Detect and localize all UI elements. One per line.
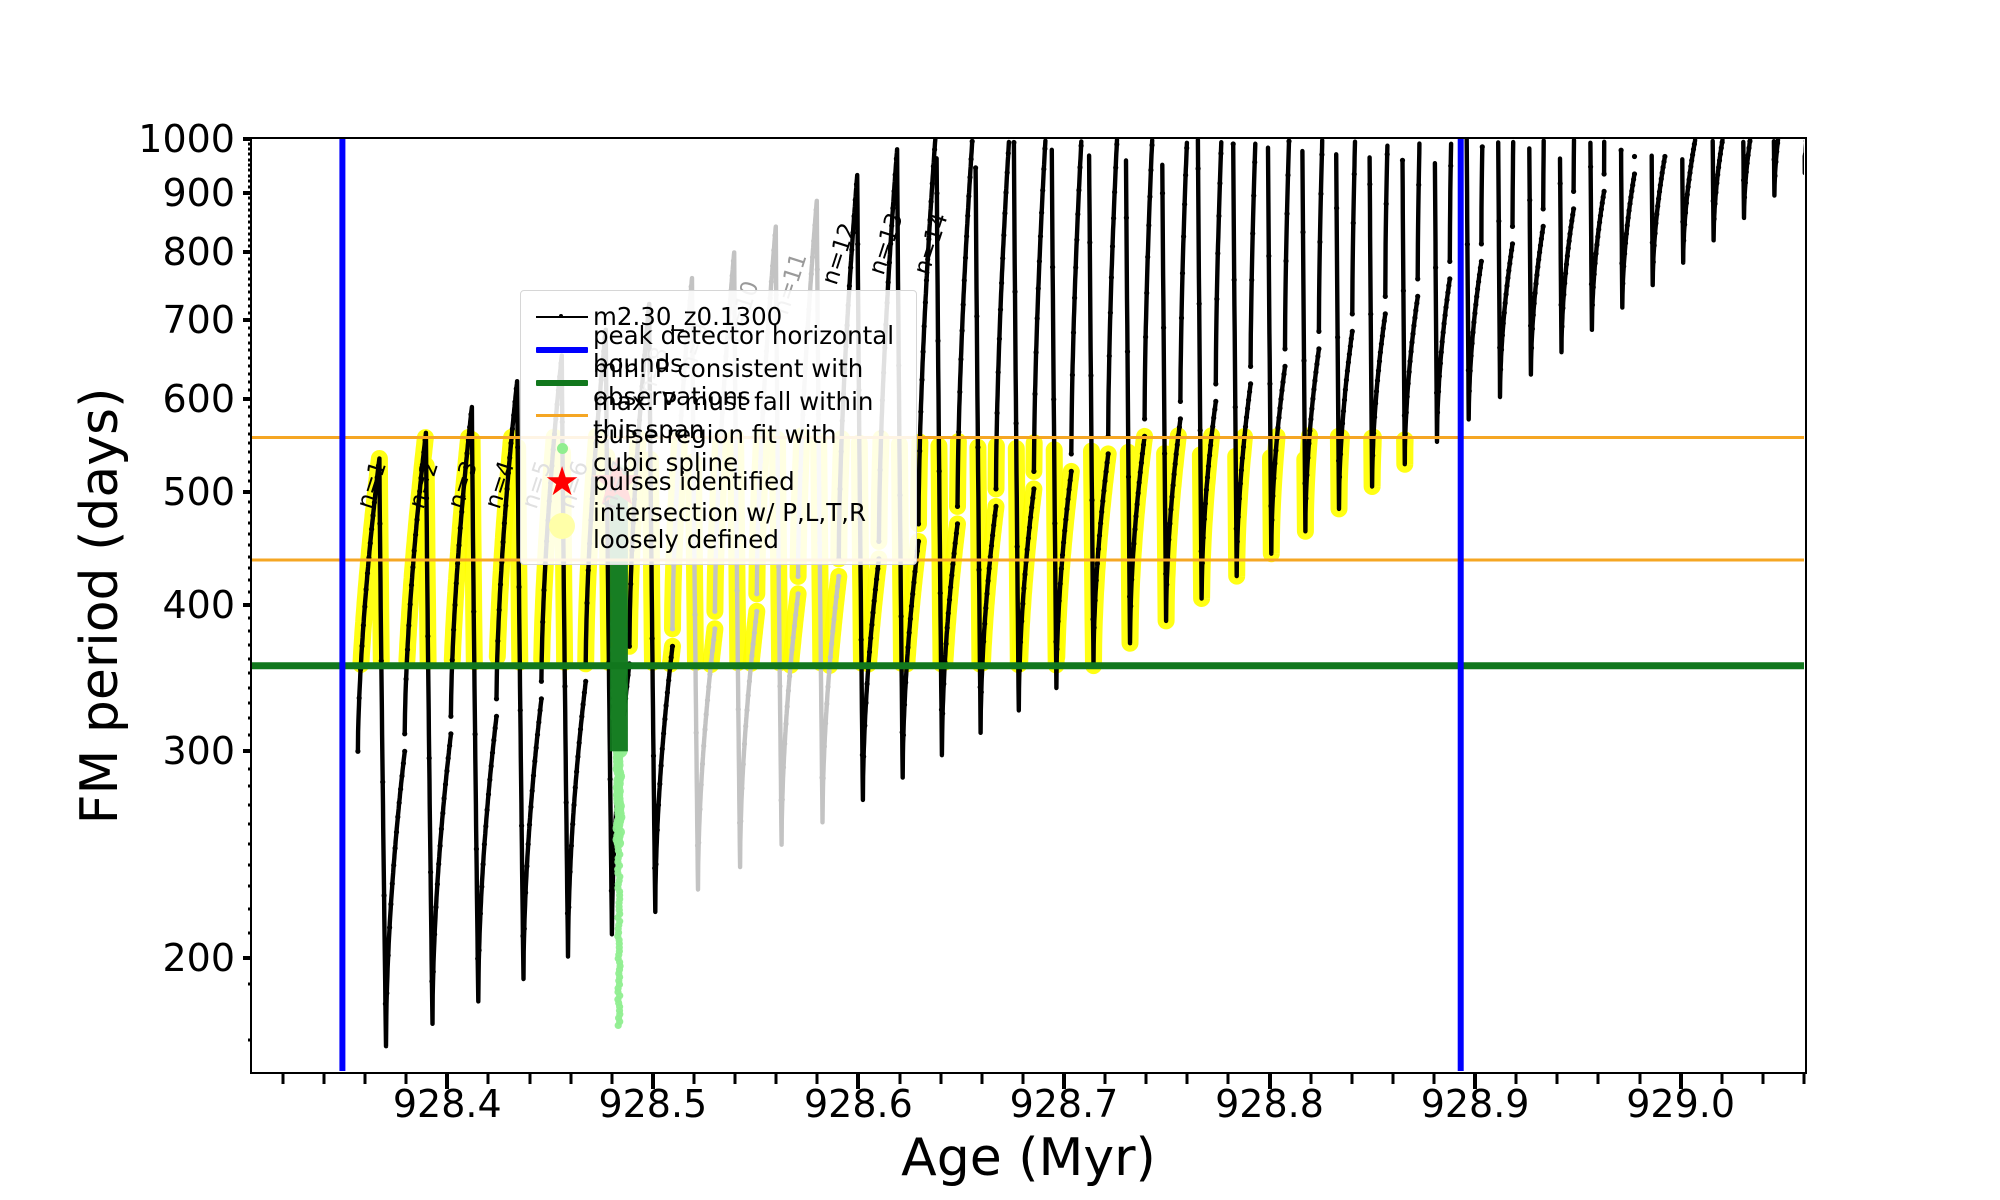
x-tick-minor: [1803, 1074, 1806, 1084]
legend-item-7[interactable]: intersection w/ P,L,T,R loosely defined: [531, 498, 906, 554]
y-tick-label: 700: [162, 298, 235, 342]
x-tick-minor: [1515, 1074, 1518, 1084]
x-tick-minor: [692, 1074, 695, 1084]
x-tick-minor: [1104, 1074, 1107, 1084]
x-tick-minor: [1145, 1074, 1148, 1084]
x-tick-minor: [1720, 1074, 1723, 1084]
x-tick-minor: [775, 1074, 778, 1084]
x-tick-minor: [610, 1074, 613, 1084]
x-tick-minor: [364, 1074, 367, 1084]
x-tick-minor: [487, 1074, 490, 1084]
x-tick-minor: [1761, 1074, 1764, 1084]
x-tick-minor: [898, 1074, 901, 1084]
x-tick-minor: [1391, 1074, 1394, 1084]
y-axis-label: FM period (days): [70, 206, 130, 1006]
thick-line-icon: [531, 371, 593, 395]
legend-item-label: pulses identified: [593, 468, 795, 495]
y-tick-label: 800: [162, 230, 235, 274]
x-tick-minor: [1597, 1074, 1600, 1084]
x-tick-minor: [322, 1074, 325, 1084]
x-tick-label: 928.8: [1215, 1082, 1324, 1126]
plot-clip: n=1n=2n=3n=4n=5n=6n=7n=8n=9n=10n=11n=12n…: [252, 139, 1805, 1072]
x-tick-minor: [569, 1074, 572, 1084]
x-tick-minor: [1309, 1074, 1312, 1084]
x-tick-minor: [1227, 1074, 1230, 1084]
y-tick-label: 500: [162, 470, 235, 514]
x-tick-minor: [281, 1074, 284, 1084]
plot-area: n=1n=2n=3n=4n=5n=6n=7n=8n=9n=10n=11n=12n…: [250, 137, 1807, 1074]
y-tick-label: 900: [162, 171, 235, 215]
x-tick-minor: [405, 1074, 408, 1084]
x-tick-label: 929.0: [1626, 1082, 1735, 1126]
thin-line-icon: [531, 404, 593, 428]
x-tick-label: 928.7: [1010, 1082, 1119, 1126]
yellow-dot-icon: [531, 514, 593, 538]
y-tick-label: 400: [162, 583, 235, 627]
x-tick-minor: [939, 1074, 942, 1084]
red-star-icon: ★: [531, 470, 593, 494]
x-tick-minor: [1186, 1074, 1189, 1084]
green-dot-icon: [531, 437, 593, 461]
y-tick-label: 600: [162, 377, 235, 421]
chart-legend[interactable]: m2.30_z0.1300peak detector horizontal bo…: [520, 290, 917, 565]
x-tick-minor: [1638, 1074, 1641, 1084]
x-tick-minor: [734, 1074, 737, 1084]
chart-canvas: [252, 139, 1804, 1071]
chart-figure: FM period (days) 20030040050060070080090…: [0, 0, 2000, 1200]
x-tick-minor: [1021, 1074, 1024, 1084]
legend-item-label: intersection w/ P,L,T,R loosely defined: [593, 499, 866, 554]
x-tick-label: 928.6: [804, 1082, 913, 1126]
x-tick-label: 928.4: [393, 1082, 502, 1126]
y-axis-label-wrapper: FM period (days): [0, 137, 60, 1074]
x-tick-label: 928.5: [598, 1082, 707, 1126]
x-axis-label: Age (Myr): [250, 1128, 1807, 1188]
legend-item-5[interactable]: pulse region fit with cubic spline: [531, 432, 906, 465]
y-tick-label: 1000: [138, 117, 235, 161]
x-tick-minor: [1556, 1074, 1559, 1084]
x-tick-minor: [980, 1074, 983, 1084]
line-marker-icon: [531, 305, 593, 329]
y-tick-label: 300: [162, 729, 235, 773]
fm-period-curve: [355, 139, 1804, 1046]
x-tick-minor: [528, 1074, 531, 1084]
x-tick-label: 928.9: [1421, 1082, 1530, 1126]
x-tick-minor: [816, 1074, 819, 1084]
thick-line-icon: [531, 338, 593, 362]
x-tick-minor: [1432, 1074, 1435, 1084]
x-tick-minor: [1350, 1074, 1353, 1084]
y-tick-label: 200: [162, 936, 235, 980]
